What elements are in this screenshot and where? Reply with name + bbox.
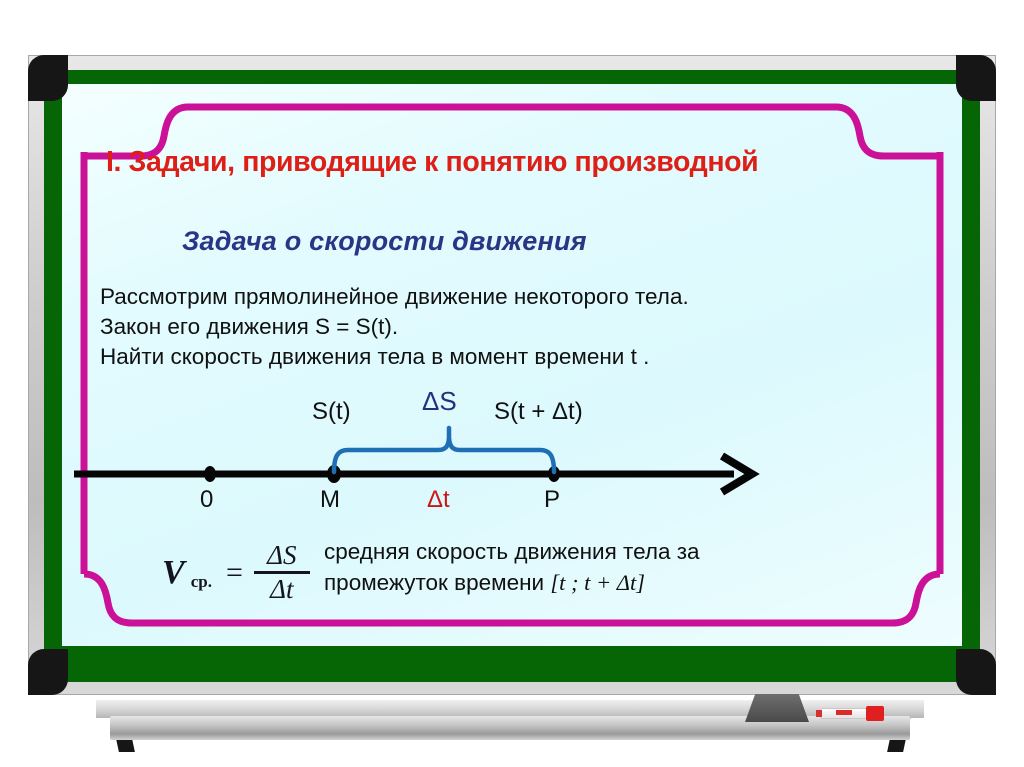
formula-equals: =	[224, 556, 245, 590]
label-s-of-t: S(t)	[312, 398, 351, 426]
corner-cap-bottom-left	[28, 649, 68, 695]
body-line-2: Закон его движения S = S(t).	[100, 312, 920, 342]
formula-interval: [t ; t + Δt]	[550, 570, 645, 595]
corner-cap-top-right	[956, 55, 996, 101]
formula-numerator: ΔS	[261, 542, 302, 571]
slide-content: I. Задачи, приводящие к понятию производ…	[62, 84, 962, 646]
label-delta-s: ΔS	[422, 386, 457, 417]
point-origin-dot	[204, 466, 216, 482]
label-point-m: M	[320, 486, 340, 514]
formula-description: средняя скорость движения тела за промеж…	[324, 536, 924, 598]
corner-cap-bottom-right	[956, 649, 996, 695]
formula-fraction: ΔS Δt	[254, 542, 310, 603]
formula-description-line-2-plain: промежуток времени	[324, 570, 550, 595]
body-line-1: Рассмотрим прямолинейное движение некото…	[100, 282, 920, 312]
corner-cap-top-left	[28, 55, 68, 101]
label-point-p: P	[544, 486, 560, 514]
label-origin: 0	[200, 486, 213, 514]
whiteboard-assembly: I. Задачи, приводящие к понятию производ…	[0, 0, 1024, 767]
marker-tip	[816, 710, 822, 717]
number-line-diagram: S(t) ΔS S(t + Δt) 0 M Δt P	[62, 392, 962, 532]
formula-variable: V	[162, 554, 185, 592]
marker-band	[836, 710, 852, 715]
page-title: I. Задачи, приводящие к понятию производ…	[106, 146, 946, 179]
formula-subscript: ср.	[191, 572, 212, 592]
board-writing-surface: I. Задачи, приводящие к понятию производ…	[62, 84, 962, 646]
body-line-3: Найти скорость движения тела в момент вр…	[100, 342, 920, 372]
formula-denominator: Δt	[264, 574, 299, 603]
marker-cap	[866, 706, 884, 721]
slide-subtitle: Задача о скорости движения	[182, 226, 587, 257]
formula-row: Vср. = ΔS Δt средняя скорость движения т…	[102, 536, 932, 626]
eraser-icon[interactable]	[745, 694, 809, 722]
average-speed-formula: Vср. = ΔS Δt	[162, 542, 310, 603]
formula-description-line-1: средняя скорость движения тела за	[324, 536, 924, 567]
label-s-of-t-plus-dt: S(t + Δt)	[494, 398, 583, 426]
label-delta-t: Δt	[427, 486, 450, 514]
body-text: Рассмотрим прямолинейное движение некото…	[100, 282, 920, 372]
formula-description-line-2: промежуток времени [t ; t + Δt]	[324, 567, 924, 598]
